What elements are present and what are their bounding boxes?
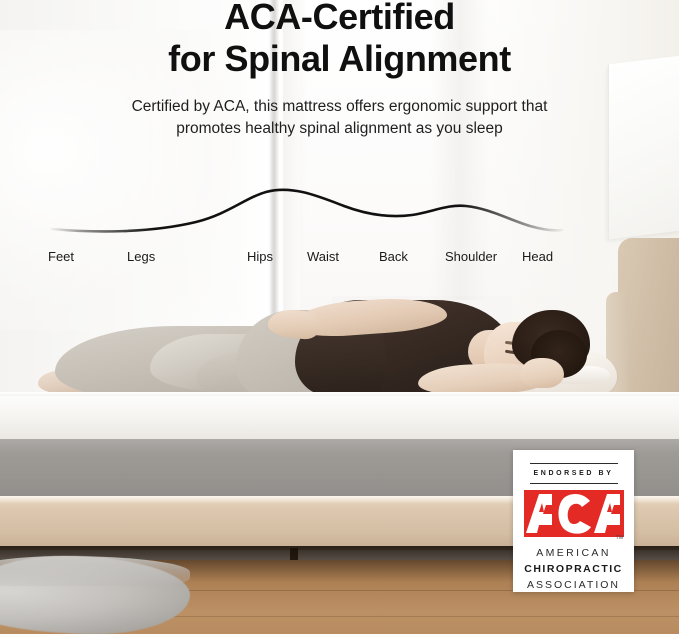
subtitle-line-2: promotes healthy spinal alignment as you… <box>0 118 679 140</box>
page-title: ACA-Certified for Spinal Alignment <box>0 0 679 81</box>
mattress-comfort-layer <box>0 392 679 440</box>
badge-divider-top <box>530 463 618 464</box>
badge-endorsed-by-label: ENDORSED BY <box>534 470 614 477</box>
aca-logo-svg <box>524 490 624 537</box>
headline-line-2: for Spinal Alignment <box>0 38 679 80</box>
aca-logo: TM <box>524 490 624 537</box>
badge-org-line-1: AMERICAN <box>536 547 611 559</box>
headline-line-1: ACA-Certified <box>0 0 679 38</box>
subtitle-line-1: Certified by ACA, this mattress offers e… <box>0 96 679 118</box>
badge-org-line-3: ASSOCIATION <box>527 579 620 591</box>
aca-endorsement-badge: ENDORSED BY TM <box>513 450 634 592</box>
badge-org-line-2: CHIROPRACTIC <box>524 563 623 575</box>
mattress-top-edge <box>0 392 679 396</box>
promo-image-root: ACA-Certified for Spinal Alignment Certi… <box>0 0 679 634</box>
badge-divider-bottom <box>530 483 618 484</box>
hand-near-pillow <box>520 358 564 388</box>
trademark-symbol: TM <box>616 535 624 541</box>
subtitle: Certified by ACA, this mattress offers e… <box>0 96 679 140</box>
